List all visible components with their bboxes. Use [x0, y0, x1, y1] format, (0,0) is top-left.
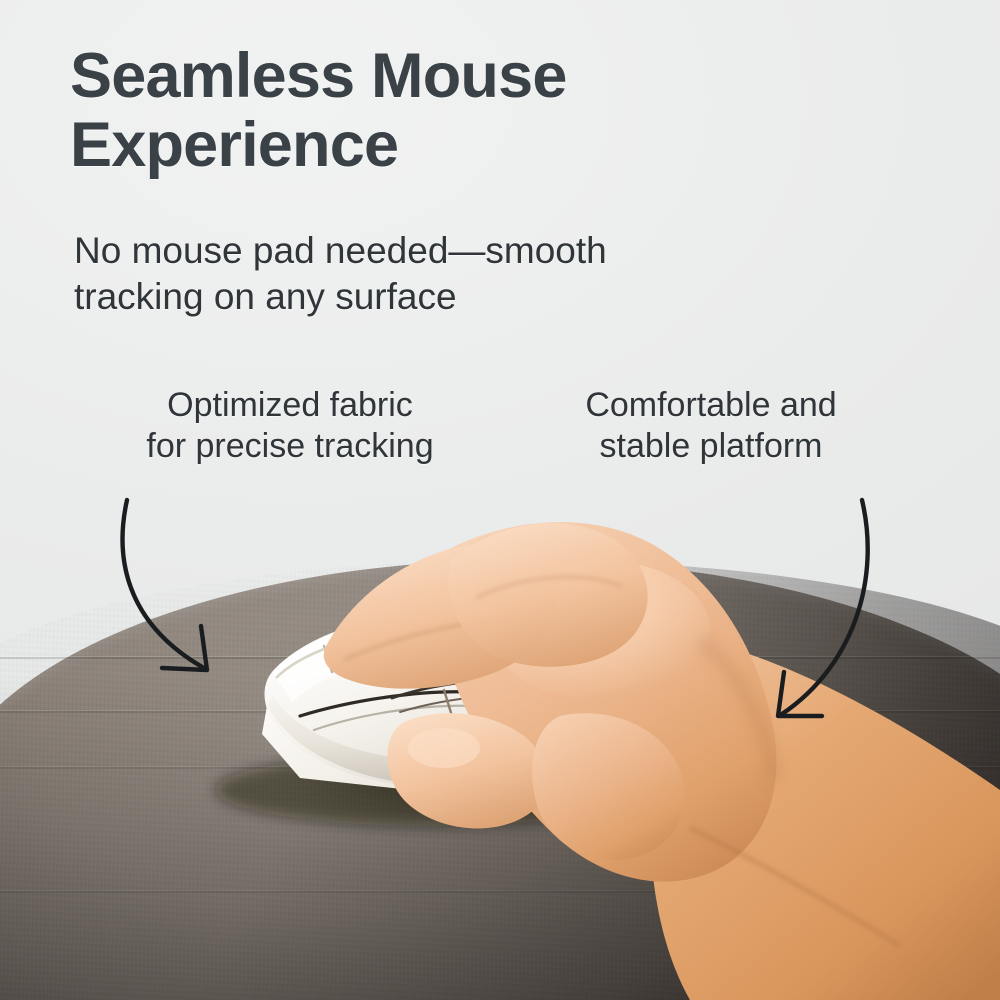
thumb-nail-highlight	[408, 728, 480, 768]
callout-comfortable-platform: Comfortable and stable platform	[528, 385, 894, 468]
page-title: Seamless Mouse Experience	[70, 42, 890, 181]
callout-optimized-fabric: Optimized fabric for precise tracking	[88, 385, 492, 468]
product-feature-image: Seamless Mouse Experience No mouse pad n…	[0, 0, 1000, 1000]
page-subtitle: No mouse pad needed—smooth tracking on a…	[74, 228, 774, 321]
